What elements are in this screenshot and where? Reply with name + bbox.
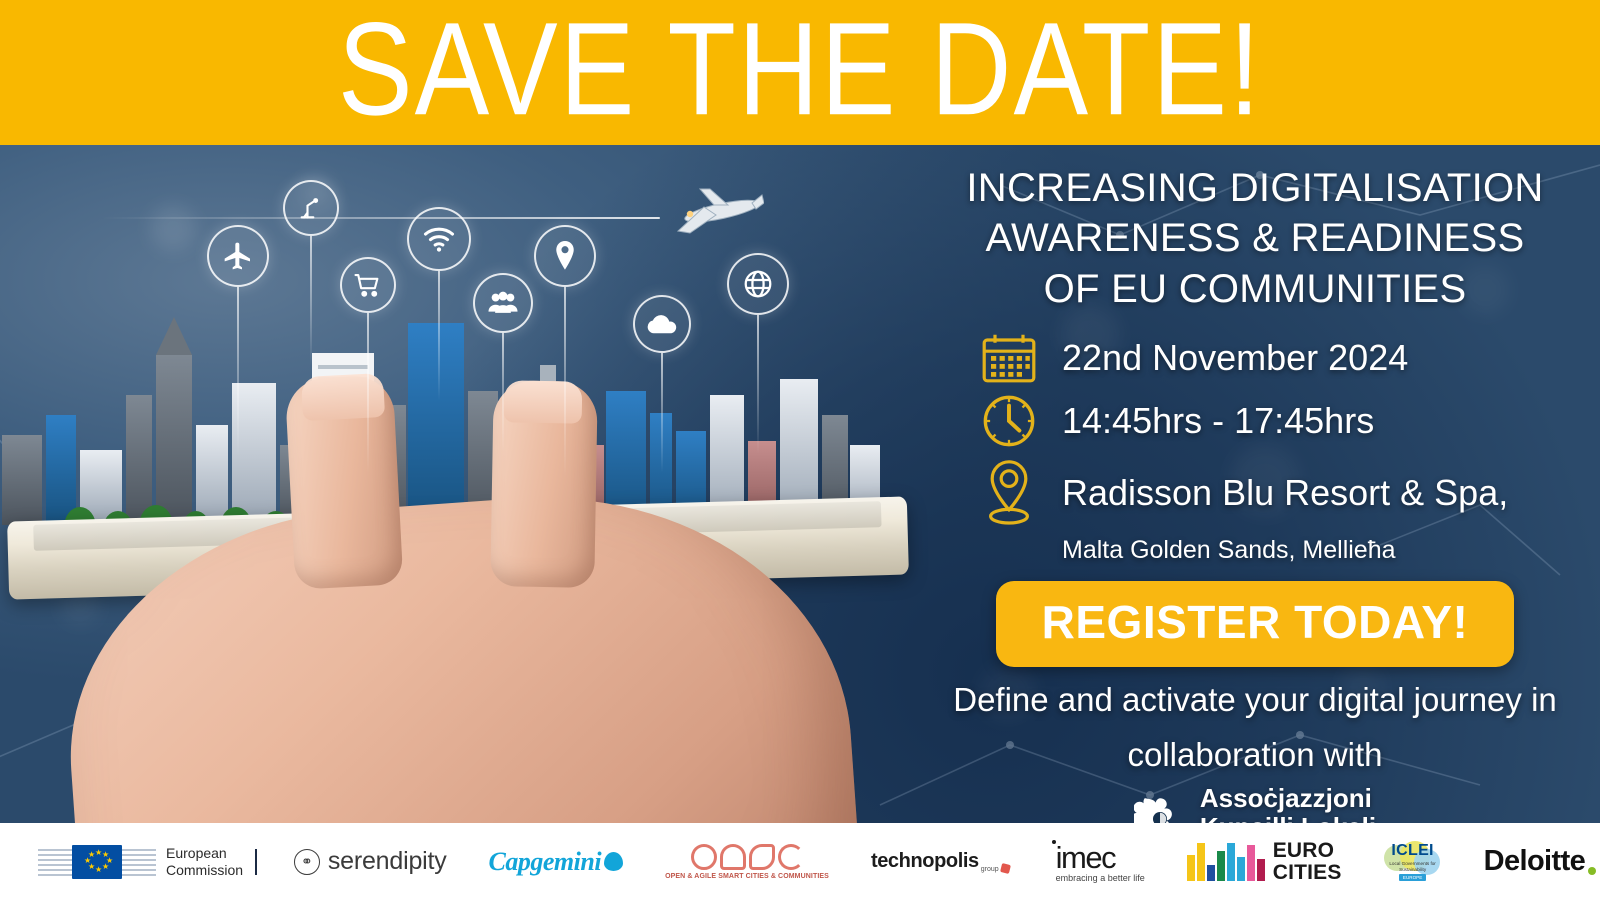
event-headline: INCREASING DIGITALISATION AWARENESS & RE…: [940, 163, 1570, 314]
partner-logos: ⚭ serendipity Capgemini OPEN & AGILE SMA…: [290, 840, 1600, 883]
location-pin-icon: [978, 458, 1040, 528]
top-banner-bar: SAVE THE DATE!: [0, 0, 1600, 145]
logo-deloitte: Deloitte: [1484, 845, 1597, 878]
people-group-icon: [473, 273, 533, 333]
tagline-line-2: collaboration with: [940, 728, 1570, 782]
oasc-mark-icon: [691, 844, 804, 870]
event-date: 22nd November 2024: [1062, 337, 1408, 379]
technopolis-tagline: group: [981, 866, 999, 873]
register-today-button[interactable]: REGISTER TODAY!: [996, 581, 1515, 667]
detail-row-date: 22nd November 2024: [940, 332, 1570, 384]
logo-iclei: ICLEI Local Governments for Sustainabili…: [1384, 841, 1442, 883]
pin-globe: [727, 253, 789, 315]
airplane-icon: [207, 225, 269, 287]
contrail: [100, 217, 660, 219]
technopolis-label: technopolis: [871, 850, 979, 873]
event-time: 14:45hrs - 17:45hrs: [1062, 400, 1374, 442]
divider: [255, 849, 257, 875]
logo-eurocities: EURO CITIES: [1187, 840, 1342, 883]
logo-capgemini: Capgemini: [489, 847, 624, 877]
deloitte-dot-icon: [1588, 867, 1596, 875]
pin-robot-arm: [283, 180, 339, 236]
event-detail-list: 22nd November 2024 14:45hrs - 17:45hrs: [940, 332, 1570, 565]
cloud-icon: [633, 295, 691, 353]
eurocities-label: EURO CITIES: [1273, 840, 1342, 883]
save-the-date-banner: SAVE THE DATE!: [0, 0, 1600, 900]
eu-commission-name: European Commission: [166, 845, 243, 878]
eu-name-line-1: European: [166, 845, 243, 862]
clock-icon: [978, 394, 1040, 448]
logo-oasc: OPEN & AGILE SMART CITIES & COMMUNITIES: [665, 844, 829, 880]
capgemini-spade-icon: [604, 852, 623, 871]
collaboration-tagline: Define and activate your digital journey…: [940, 673, 1570, 782]
pin-people-group: [473, 273, 533, 333]
iclei-tagline: Local Governments for Sustainability: [1384, 861, 1442, 872]
shopping-cart-icon: [340, 257, 396, 313]
headline-line-1: INCREASING DIGITALISATION: [940, 163, 1570, 213]
headline-line-3: OF EU COMMUNITIES: [940, 264, 1570, 314]
imec-tagline: embracing a better life: [1056, 873, 1145, 883]
calendar-icon: [978, 332, 1040, 384]
headline-line-2: AWARENESS & READINESS: [940, 213, 1570, 263]
collaborator-name-line-1: Assoċjazzjoni: [1200, 784, 1376, 813]
imec-label: imec: [1056, 840, 1145, 876]
technopolis-mark-icon: [1000, 863, 1011, 874]
iclei-mark-icon: ICLEI Local Governments for Sustainabili…: [1384, 841, 1442, 883]
globe-icon: [727, 253, 789, 315]
register-button-wrap: REGISTER TODAY!: [940, 581, 1570, 667]
ec-fan-icon: [38, 845, 72, 879]
eu-name-line-2: Commission: [166, 862, 243, 879]
airplane-photo: [660, 185, 764, 254]
partner-logo-footer: ★ ★ ★ ★ ★ ★ ★ ★ European Commission ⚭: [0, 823, 1600, 900]
tagline-line-1: Define and activate your digital journey…: [940, 673, 1570, 727]
eurocities-bars-icon: [1187, 843, 1265, 881]
save-the-date-title: SAVE THE DATE!: [338, 3, 1262, 135]
jet-icon: [660, 185, 764, 249]
pin-cloud: [633, 295, 691, 353]
pin-airplane: [207, 225, 269, 287]
fingernail: [301, 373, 385, 421]
smart-city-illustration: [0, 145, 960, 823]
fingernail: [504, 380, 583, 423]
event-venue-address: Malta Golden Sands, Mellieħa: [1062, 536, 1570, 565]
oasc-tagline: OPEN & AGILE SMART CITIES & COMMUNITIES: [665, 873, 829, 880]
deloitte-label: Deloitte: [1484, 845, 1586, 878]
robot-arm-icon: [283, 180, 339, 236]
detail-row-venue: Radisson Blu Resort & Spa,: [940, 458, 1570, 528]
map-pin-icon: [534, 225, 596, 287]
city-skyline: [0, 295, 880, 525]
serendipity-label: serendipity: [328, 847, 447, 876]
serendipity-mark-icon: ⚭: [294, 849, 320, 875]
logo-imec: imec embracing a better life: [1052, 840, 1145, 883]
logo-serendipity: ⚭ serendipity: [294, 847, 447, 876]
detail-row-time: 14:45hrs - 17:45hrs: [940, 394, 1570, 448]
eu-commission-logo: ★ ★ ★ ★ ★ ★ ★ ★ European Commission: [0, 845, 290, 879]
capgemini-label: Capgemini: [489, 847, 602, 877]
event-details-panel: INCREASING DIGITALISATION AWARENESS & RE…: [940, 145, 1600, 823]
eurocities-line-2: CITIES: [1273, 862, 1342, 883]
pin-map-location: [534, 225, 596, 287]
iclei-label: ICLEI: [1391, 842, 1433, 860]
pin-shopping-cart: [340, 257, 396, 313]
eurocities-line-1: EURO: [1273, 840, 1342, 861]
ec-fan-icon: [122, 845, 156, 879]
eu-flag-icon: ★ ★ ★ ★ ★ ★ ★ ★: [72, 845, 122, 879]
logo-technopolis: technopolis group: [871, 850, 1010, 873]
iclei-region-badge: EUROPE: [1399, 874, 1426, 881]
event-venue: Radisson Blu Resort & Spa,: [1062, 472, 1508, 514]
